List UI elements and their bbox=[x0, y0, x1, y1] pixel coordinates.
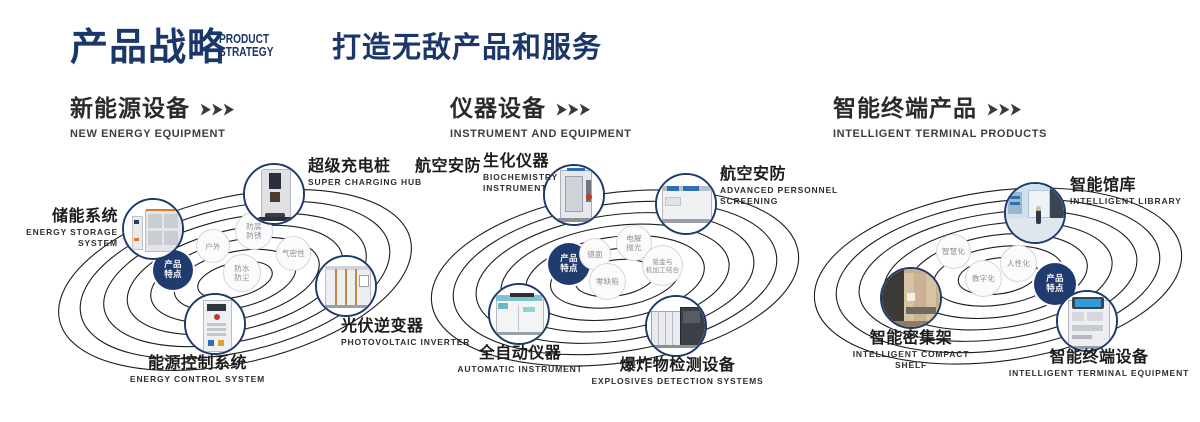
library-room-icon bbox=[1006, 184, 1064, 242]
cluster-intelligent-terminal: 智慧化 数字化 人性化 产品特点 智能馆库 bbox=[808, 150, 1200, 410]
feature-line1: 电解 bbox=[626, 234, 641, 243]
feature-bubble: 气密性 bbox=[276, 236, 311, 271]
caption-energy-control-system: 能源控制系统 ENERGY CONTROL SYSTEM bbox=[80, 355, 315, 385]
auto-analyzer-icon bbox=[490, 285, 548, 343]
feature-bubble: 人性化 bbox=[1000, 245, 1037, 282]
page-header: 产品战略 PRODUCT STRATEGY 打造无敌产品和服务 bbox=[0, 0, 1200, 90]
feature-line2: 防尘 bbox=[234, 273, 249, 282]
feature-line1: 智慧化 bbox=[942, 247, 965, 256]
feature-line1: 防腐 bbox=[246, 222, 261, 231]
caption-cn: 智能密集架 bbox=[818, 330, 1004, 347]
core-line1: 产品 bbox=[1046, 274, 1064, 284]
page-title: 产品战略 bbox=[70, 28, 226, 66]
feature-line2: 防锈 bbox=[246, 231, 261, 240]
feature-line1: 零缺陷 bbox=[596, 277, 619, 286]
product-strategy-infographic: 产品战略 PRODUCT STRATEGY 打造无敌产品和服务 新能源设备➤➤➤… bbox=[0, 0, 1200, 422]
feature-line1: 人性化 bbox=[1007, 259, 1030, 268]
screening-machine-icon bbox=[657, 175, 715, 233]
feature-line1: 钣金与 bbox=[652, 258, 672, 266]
feature-bubble: 数字化 bbox=[965, 260, 1002, 297]
section-title-cn: 新能源设备 bbox=[70, 98, 190, 121]
node-advanced-personnel-screening[interactable] bbox=[655, 173, 717, 235]
section-title-en: NEW ENERGY EQUIPMENT bbox=[70, 128, 234, 140]
caption-en: BIOCHEMISTRY INSTRUMENT bbox=[483, 172, 603, 194]
caption-explosives-detection-systems: 爆炸物检测设备 EXPLOSIVES DETECTION SYSTEMS bbox=[570, 357, 785, 387]
chevrons-right-icon: ➤➤➤ bbox=[555, 97, 590, 120]
node-energy-storage-system[interactable] bbox=[122, 198, 184, 260]
control-cabinet-icon bbox=[186, 295, 244, 353]
page-subtitle: 打造无敌产品和服务 bbox=[332, 33, 602, 62]
section-title-en: INTELLIGENT TERMINAL PRODUCTS bbox=[833, 128, 1047, 140]
caption-cn: 爆炸物检测设备 bbox=[570, 357, 785, 374]
core-line2: 特点 bbox=[560, 264, 578, 274]
caption-en: INTELLIGENT TERMINAL EQUIPMENT bbox=[998, 368, 1200, 379]
caption-en: SUPER CHARGING HUB bbox=[308, 177, 438, 188]
feature-line1: 镜面 bbox=[587, 250, 602, 259]
kiosk-terminal-icon bbox=[1058, 292, 1116, 350]
core-line2: 特点 bbox=[164, 270, 182, 280]
feature-line2: 机加工结合 bbox=[646, 266, 680, 274]
feature-bubble: 智慧化 bbox=[936, 234, 971, 269]
chevrons-right-icon: ➤➤➤ bbox=[199, 97, 234, 120]
caption-intelligent-terminal-equipment: 智能终端设备 INTELLIGENT TERMINAL EQUIPMENT bbox=[998, 349, 1200, 379]
section-title-cn: 仪器设备 bbox=[450, 98, 546, 121]
caption-cn: 智能终端设备 bbox=[998, 349, 1200, 366]
node-intelligent-terminal-equipment[interactable] bbox=[1056, 290, 1118, 352]
cluster-new-energy: 产品特点 户外 防腐防锈 防水防尘 气密性 bbox=[45, 150, 425, 410]
chevrons-right-icon: ➤➤➤ bbox=[986, 97, 1021, 120]
cluster-instrument: 产品特点 镜面 电解抛光 零缺陷 钣金与机加工结合 航空安防 bbox=[420, 150, 810, 410]
node-energy-control-system[interactable] bbox=[184, 293, 246, 355]
caption-cn: 储能系统 bbox=[0, 208, 118, 225]
section-title-en: INSTRUMENT AND EQUIPMENT bbox=[450, 128, 631, 140]
feature-bubble: 零缺陷 bbox=[589, 263, 626, 300]
caption-en: INTELLIGENT COMPACT SHELF bbox=[818, 349, 1004, 371]
page-title-en-line2: STRATEGY bbox=[219, 45, 281, 58]
caption-cn: 智能馆库 bbox=[1070, 177, 1200, 194]
feature-line1: 数字化 bbox=[972, 274, 995, 283]
caption-en: ENERGY STORAGE SYSTEM bbox=[0, 227, 118, 249]
node-automatic-instrument[interactable] bbox=[488, 283, 550, 345]
feature-line1: 户外 bbox=[205, 242, 220, 251]
feature-bubble: 户外 bbox=[196, 229, 230, 263]
caption-cn: 生化仪器 bbox=[483, 153, 603, 170]
compact-shelf-icon bbox=[882, 269, 940, 327]
section-heading-new-energy: 新能源设备➤➤➤ NEW ENERGY EQUIPMENT bbox=[70, 98, 234, 140]
caption-en: EXPLOSIVES DETECTION SYSTEMS bbox=[570, 376, 785, 387]
caption-biochemistry-instrument: 生化仪器 BIOCHEMISTRY INSTRUMENT bbox=[483, 153, 603, 194]
feature-line2: 抛光 bbox=[626, 243, 641, 252]
feature-bubble: 防水防尘 bbox=[223, 254, 261, 292]
caption-energy-storage-system: 储能系统 ENERGY STORAGE SYSTEM bbox=[0, 208, 118, 249]
core-line1: 产品 bbox=[164, 260, 182, 270]
node-super-charging-hub[interactable] bbox=[243, 163, 305, 225]
feature-line1: 气密性 bbox=[282, 249, 305, 258]
charging-pile-icon bbox=[245, 165, 303, 223]
caption-intelligent-library: 智能馆库 INTELLIGENT LIBRARY bbox=[1070, 177, 1200, 207]
feature-bubble: 钣金与机加工结合 bbox=[642, 245, 683, 286]
caption-en: ENERGY CONTROL SYSTEM bbox=[80, 374, 315, 385]
section-heading-intelligent-terminal: 智能终端产品➤➤➤ INTELLIGENT TERMINAL PRODUCTS bbox=[833, 98, 1047, 140]
detection-unit-icon bbox=[647, 297, 705, 355]
caption-intelligent-compact-shelf: 智能密集架 INTELLIGENT COMPACT SHELF bbox=[818, 330, 1004, 371]
node-photovoltaic-inverter[interactable] bbox=[315, 255, 377, 317]
node-explosives-detection-systems[interactable] bbox=[645, 295, 707, 357]
node-intelligent-compact-shelf[interactable] bbox=[880, 267, 942, 329]
core-line1: 产品 bbox=[560, 254, 578, 264]
node-intelligent-library[interactable] bbox=[1004, 182, 1066, 244]
page-title-en: PRODUCT STRATEGY bbox=[219, 32, 281, 58]
caption-cn: 能源控制系统 bbox=[80, 355, 315, 372]
battery-cabinet-icon bbox=[124, 200, 182, 258]
section-title-cn: 智能终端产品 bbox=[833, 98, 977, 121]
feature-line1: 防水 bbox=[234, 264, 249, 273]
inverter-cabinet-icon bbox=[317, 257, 375, 315]
section-heading-instrument: 仪器设备➤➤➤ INSTRUMENT AND EQUIPMENT bbox=[450, 98, 631, 140]
caption-en: INTELLIGENT LIBRARY bbox=[1070, 196, 1200, 207]
